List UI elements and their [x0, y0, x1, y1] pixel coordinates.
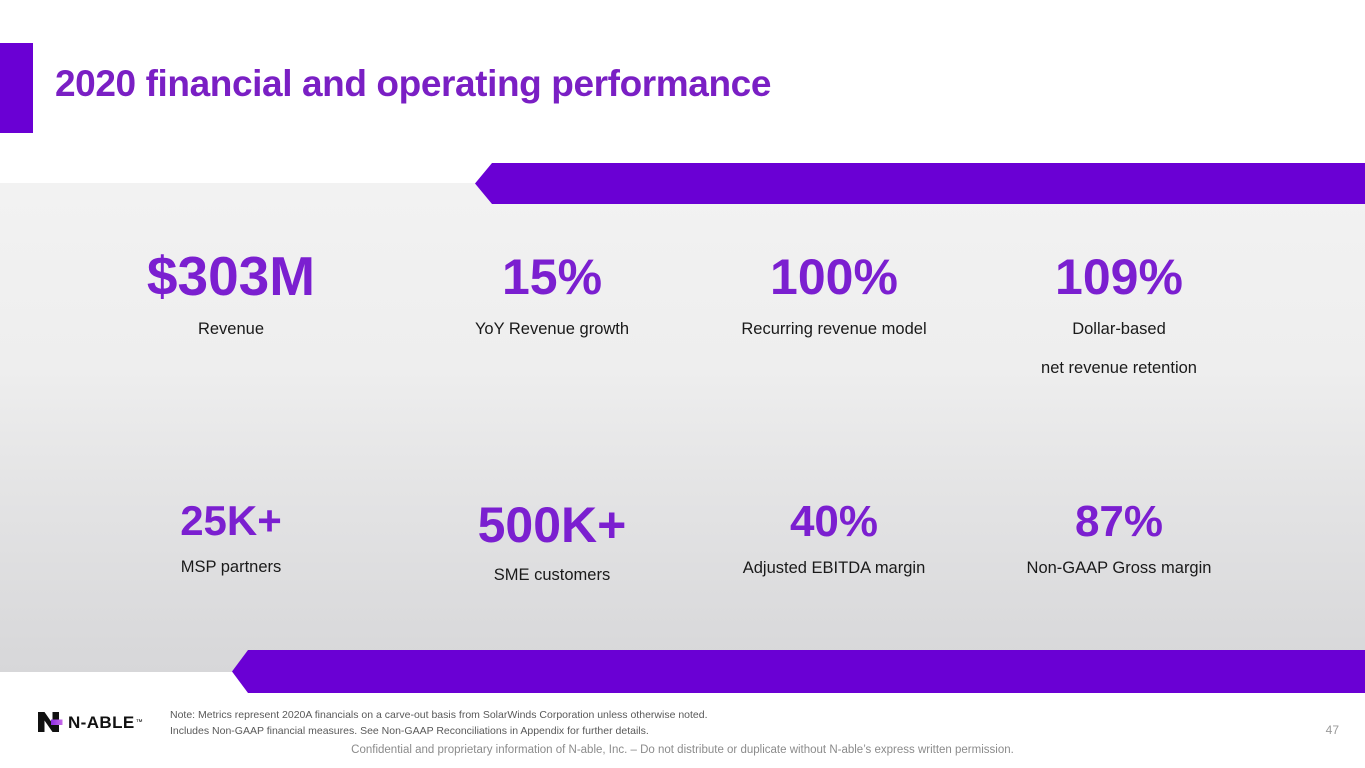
stat-value: 100% — [714, 252, 954, 302]
stat-label: Recurring revenue model — [714, 318, 954, 341]
stat-revenue: $303M Revenue — [108, 249, 354, 341]
bottom-chevron-banner — [232, 650, 1365, 693]
stat-label-line2: net revenue retention — [999, 357, 1239, 380]
stat-yoy-revenue-growth: 15% YoY Revenue growth — [432, 252, 672, 341]
top-chevron-banner — [475, 163, 1365, 204]
page-title: 2020 financial and operating performance — [55, 63, 771, 105]
footnote-line-2: Includes Non-GAAP financial measures. Se… — [170, 724, 708, 740]
stat-adjusted-ebitda-margin: 40% Adjusted EBITDA margin — [714, 500, 954, 580]
confidential-notice: Confidential and proprietary information… — [0, 744, 1365, 756]
stat-label: SME customers — [432, 564, 672, 587]
trademark-symbol: ™ — [136, 719, 143, 726]
stat-msp-partners: 25K+ MSP partners — [110, 500, 352, 579]
stat-label: YoY Revenue growth — [432, 318, 672, 341]
footnote: Note: Metrics represent 2020A financials… — [170, 708, 708, 740]
stat-value: $303M — [108, 249, 354, 304]
nable-logo-mark — [37, 711, 63, 733]
stat-value: 87% — [999, 500, 1239, 544]
stat-non-gaap-gross-margin: 87% Non-GAAP Gross margin — [999, 500, 1239, 580]
stat-value: 15% — [432, 252, 672, 302]
stat-sme-customers: 500K+ SME customers — [432, 500, 672, 587]
stat-label: Adjusted EBITDA margin — [714, 557, 954, 580]
stat-label: MSP partners — [110, 556, 352, 579]
nable-logo: N-ABLE ™ — [37, 710, 143, 734]
stat-label: Non-GAAP Gross margin — [999, 557, 1239, 580]
stat-value: 109% — [999, 252, 1239, 302]
stat-net-revenue-retention: 109% Dollar-based net revenue retention — [999, 252, 1239, 381]
title-accent-bar — [0, 43, 33, 133]
footnote-line-1: Note: Metrics represent 2020A financials… — [170, 708, 708, 724]
stat-value: 40% — [714, 500, 954, 544]
stat-value: 500K+ — [432, 500, 672, 550]
nable-logo-wordmark: N-ABLE — [68, 714, 135, 731]
stat-label-line1: Dollar-based — [999, 318, 1239, 341]
page-number: 47 — [1326, 723, 1339, 737]
stat-label: Revenue — [108, 318, 354, 341]
stat-recurring-revenue-model: 100% Recurring revenue model — [714, 252, 954, 341]
stat-value: 25K+ — [110, 500, 352, 542]
